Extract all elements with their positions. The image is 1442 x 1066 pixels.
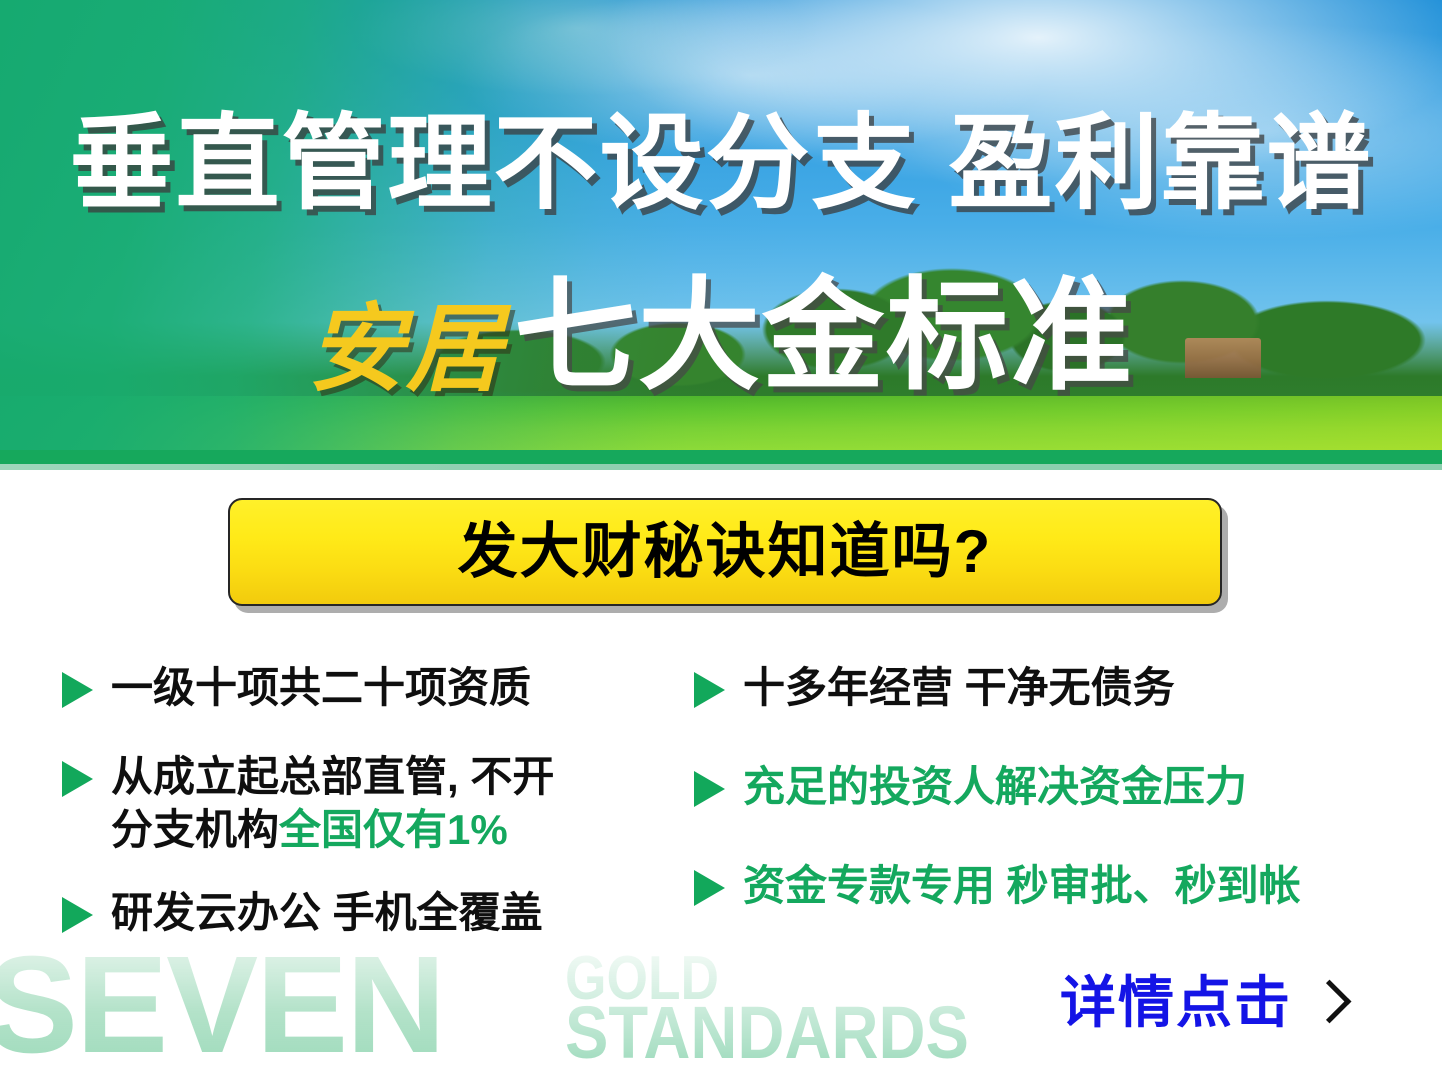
chevron-right-icon <box>1308 979 1352 1023</box>
details-cta-label: 详情点击 <box>1060 975 1292 1031</box>
promo-banner[interactable]: 发大财秘诀知道吗? <box>228 498 1222 606</box>
feature-item: 充足的投资人解决资金压力 <box>694 761 1424 814</box>
feature-item: 十多年经营 干净无债务 <box>694 662 1424 715</box>
feature-column-left: 一级十项共二十项资质 从成立起总部直管, 不开 分支机构全国仅有1% 研发云办公… <box>62 662 702 966</box>
feature-item-text: 一级十项共二十项资质 <box>111 662 531 715</box>
details-cta-link[interactable]: 详情点击 <box>1060 975 1345 1031</box>
feature-line: 充足的投资人解决资金压力 <box>743 761 1247 814</box>
feature-item-text: 研发云办公 手机全覆盖 <box>111 887 543 940</box>
feature-item: 研发云办公 手机全覆盖 <box>62 887 702 940</box>
feature-item: 从成立起总部直管, 不开 分支机构全国仅有1% <box>62 751 702 857</box>
feature-item-text: 从成立起总部直管, 不开 分支机构全国仅有1% <box>111 751 554 857</box>
feature-item-text: 十多年经营 干净无债务 <box>743 662 1175 715</box>
hero-bottom-band <box>0 450 1442 464</box>
feature-item: 资金专款专用 秒审批、秒到帐 <box>694 860 1424 913</box>
feature-line: 十多年经营 干净无债务 <box>743 662 1175 715</box>
triangle-bullet-icon <box>694 672 725 708</box>
triangle-bullet-icon <box>62 761 93 797</box>
feature-line: 研发云办公 手机全覆盖 <box>111 887 543 940</box>
triangle-bullet-icon <box>62 897 93 933</box>
advertisement-banner-page: 垂直管理不设分支 盈利靠谱 安居七大金标准 发大财秘诀知道吗? 一级十项共二十项… <box>0 0 1442 1066</box>
feature-line: 资金专款专用 秒审批、秒到帐 <box>743 860 1301 913</box>
promo-banner-text: 发大财秘诀知道吗? <box>458 522 993 582</box>
hero-banner: 垂直管理不设分支 盈利靠谱 安居七大金标准 <box>0 0 1442 470</box>
triangle-bullet-icon <box>62 672 93 708</box>
hero-headline: 垂直管理不设分支 盈利靠谱 <box>0 112 1442 216</box>
feature-line: 从成立起总部直管, 不开 <box>111 751 554 804</box>
feature-item: 一级十项共二十项资质 <box>62 662 702 715</box>
feature-item-text: 充足的投资人解决资金压力 <box>743 761 1247 814</box>
feature-column-right: 十多年经营 干净无债务 充足的投资人解决资金压力 资金专款专用 秒审批、秒到帐 <box>694 662 1424 939</box>
hero-bottom-band-light <box>0 464 1442 470</box>
watermark-standards: STANDARDS <box>565 996 969 1066</box>
feature-line-part: 分支机构 <box>111 806 279 853</box>
feature-list: 一级十项共二十项资质 从成立起总部直管, 不开 分支机构全国仅有1% 研发云办公… <box>0 662 1442 992</box>
feature-item-text: 资金专款专用 秒审批、秒到帐 <box>743 860 1301 913</box>
hero-brand-word: 安居 <box>308 296 504 403</box>
triangle-bullet-icon <box>694 771 725 807</box>
hero-subheadline-group: 安居七大金标准 <box>0 275 1442 398</box>
promo-banner-wrapper: 发大财秘诀知道吗? <box>228 498 1222 606</box>
hero-subheadline: 七大金标准 <box>514 268 1134 404</box>
feature-line: 分支机构全国仅有1% <box>111 804 554 857</box>
feature-line: 一级十项共二十项资质 <box>111 662 531 715</box>
feature-line-highlight: 全国仅有1% <box>279 806 508 853</box>
triangle-bullet-icon <box>694 870 725 906</box>
